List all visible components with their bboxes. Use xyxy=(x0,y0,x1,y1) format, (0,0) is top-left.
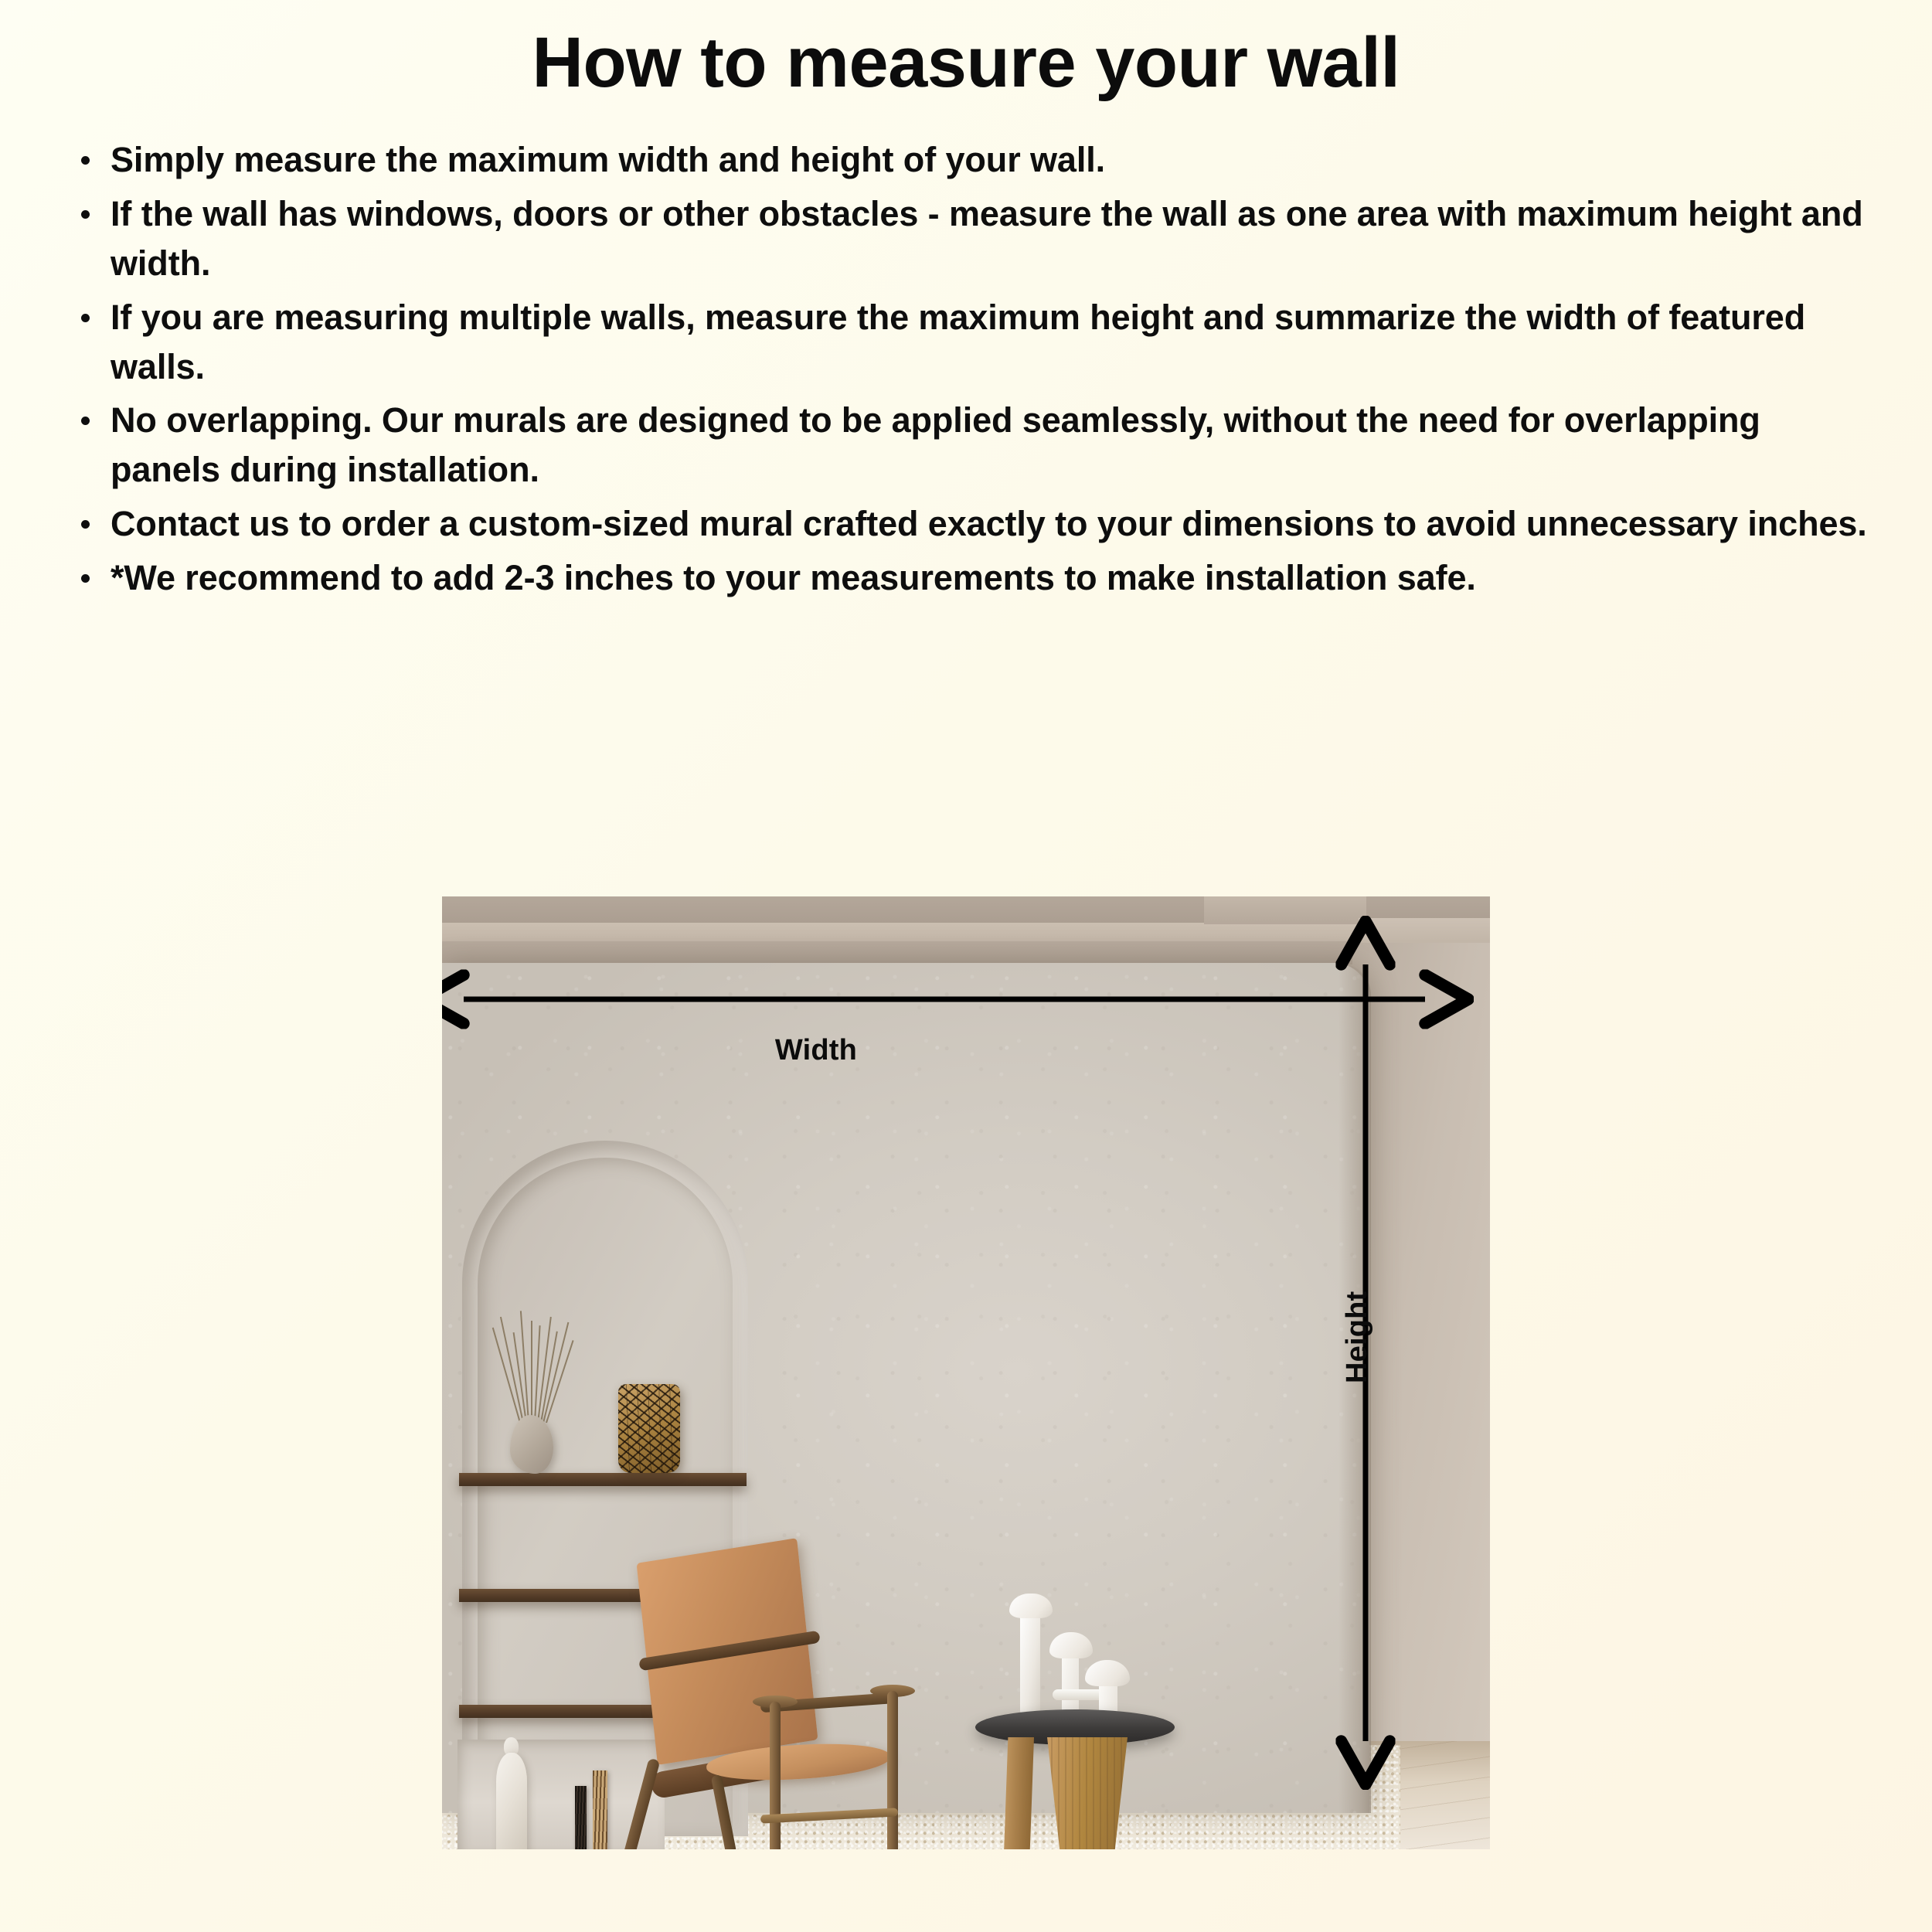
figure-sculpture xyxy=(495,1737,529,1849)
list-item: Simply measure the maximum width and hei… xyxy=(73,135,1874,185)
wall-measurement-diagram-photo: Width Height xyxy=(442,896,1490,1849)
list-item: If you are measuring multiple walls, mea… xyxy=(73,293,1874,392)
measuring-instructions-list: Simply measure the maximum width and hei… xyxy=(73,135,1874,603)
list-item: No overlapping. Our murals are designed … xyxy=(73,396,1874,495)
chair-stretcher xyxy=(760,1808,898,1823)
table-leg xyxy=(1003,1737,1034,1849)
feature-wall-edge-shadow xyxy=(1338,963,1371,1813)
ceiling-notch xyxy=(1204,896,1366,924)
chair-front-post xyxy=(887,1691,898,1849)
leather-sling-chair xyxy=(606,1550,961,1849)
ceiling-lower-plane xyxy=(442,941,1490,964)
chair-curved-leg xyxy=(619,1758,661,1849)
dried-reeds xyxy=(516,1311,550,1423)
table-leg xyxy=(1037,1737,1138,1849)
reed-stem xyxy=(531,1321,532,1423)
dark-textured-book xyxy=(575,1786,587,1849)
medium-ceramic-vase xyxy=(1062,1651,1079,1714)
ceiling-band xyxy=(442,923,1490,941)
wood-shelf xyxy=(459,1473,747,1486)
round-side-table xyxy=(975,1680,1176,1849)
list-item: *We recommend to add 2-3 inches to your … xyxy=(73,553,1874,603)
woven-basket-vessel xyxy=(618,1384,680,1473)
width-label: Width xyxy=(560,1034,1073,1067)
tall-ceramic-vase xyxy=(1020,1609,1040,1714)
sculpture-body xyxy=(496,1753,527,1849)
height-label: Height xyxy=(1341,1291,1374,1383)
side-wall-plane xyxy=(1352,943,1490,1849)
list-item: If the wall has windows, doors or other … xyxy=(73,189,1874,288)
ceiling-notch-secondary xyxy=(1359,918,1490,946)
reed-stem xyxy=(520,1311,529,1423)
list-item: Contact us to order a custom-sized mural… xyxy=(73,499,1874,549)
feature-wall xyxy=(442,963,1369,1813)
chair-front-post xyxy=(770,1702,781,1849)
page-title: How to measure your wall xyxy=(0,0,1932,103)
